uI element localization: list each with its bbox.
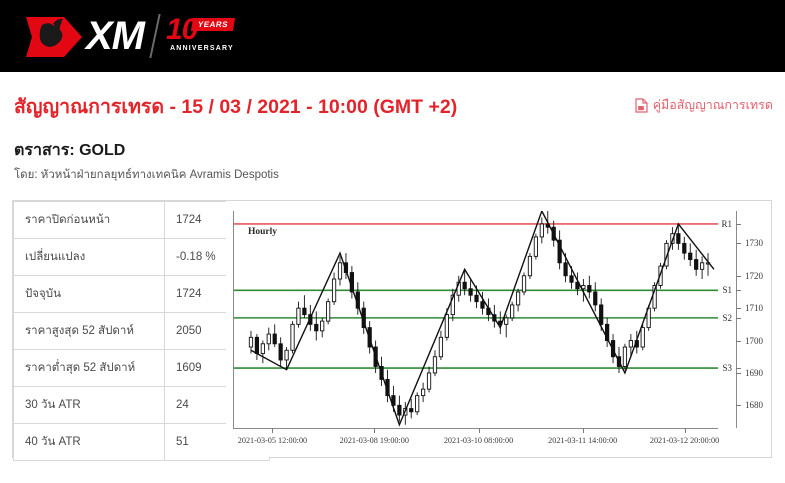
candle-body: [683, 243, 686, 253]
y-axis-tick-label: 1730: [745, 238, 763, 248]
x-axis-tick: [685, 428, 686, 433]
candle-body: [273, 334, 276, 344]
pivot-label-s1: S1: [716, 285, 732, 295]
candle-body: [570, 276, 573, 282]
y-axis-tick: [736, 341, 741, 342]
y-axis-tick-label: 1710: [745, 303, 763, 313]
logo-wordmark: XM: [86, 11, 144, 61]
stats-row-label: เปลี่ยนแปลง: [14, 239, 165, 276]
candle-body: [534, 237, 537, 256]
x-axis-tick: [583, 428, 584, 433]
anniversary-badge: 10 YEARS ANNIVERSARY: [166, 11, 244, 61]
x-axis-tick-label: 2021-03-11 14:00:00: [548, 436, 617, 445]
y-axis-tick-label: 1690: [745, 368, 763, 378]
candle-body: [321, 321, 324, 331]
pivot-label-s2: S2: [716, 313, 732, 323]
y-axis-tick: [736, 276, 741, 277]
candle-body: [416, 396, 419, 412]
author-byline: โดย: หัวหน้าฝ่ายกลยุทธ์ทางเทคนิค Avramis…: [14, 166, 279, 184]
candle-body: [694, 260, 697, 270]
y-axis-tick: [736, 243, 741, 244]
pivot-tick: [736, 290, 741, 291]
candle-body: [249, 337, 252, 347]
xm-logo[interactable]: XM 10 YEARS ANNIVERSARY: [22, 10, 244, 62]
candle-body: [516, 292, 519, 305]
y-axis-tick: [736, 405, 741, 406]
pdf-file-icon: [635, 98, 648, 113]
anniversary-years-ribbon: YEARS: [191, 18, 235, 31]
candle-body: [398, 405, 401, 415]
candle-body: [469, 289, 472, 295]
stats-row-label: ราคาปิดก่อนหน้า: [14, 202, 165, 239]
y-axis-tick-label: 1700: [745, 336, 763, 346]
candle-body: [421, 389, 424, 395]
candle-body: [505, 318, 508, 324]
price-chart: Hourly 173017201710170016901680R1S1S2S3 …: [226, 201, 771, 457]
y-axis-tick: [736, 308, 741, 309]
y-axis-tick: [736, 373, 741, 374]
candle-body: [510, 305, 513, 318]
logo-divider: [149, 14, 160, 58]
candle-body: [445, 315, 448, 338]
chart-plot-area: Hourly: [233, 211, 718, 428]
candle-body: [641, 328, 644, 347]
x-axis-tick-label: 2021-03-12 20:00:00: [650, 436, 719, 445]
candle-body: [410, 409, 413, 412]
candle-body: [315, 324, 318, 330]
site-header-bar: XM 10 YEARS ANNIVERSARY: [0, 0, 785, 72]
x-axis-line: [233, 428, 718, 429]
candle-body: [594, 292, 597, 305]
stats-row-label: ปัจจุบัน: [14, 276, 165, 313]
candle-body: [475, 295, 478, 301]
candle-body: [267, 334, 270, 344]
pivot-label-s3: S3: [716, 363, 732, 373]
candle-body: [427, 373, 430, 389]
pivot-tick: [736, 224, 741, 225]
anniversary-label: ANNIVERSARY: [170, 45, 234, 52]
candle-body: [600, 305, 603, 324]
stats-row-label: ราคาต่ำสุด 52 สัปดาห์: [14, 350, 165, 387]
candle-body: [588, 285, 591, 291]
candle-body: [623, 347, 626, 366]
candle-body: [332, 279, 335, 302]
candle-body: [338, 263, 341, 279]
candle-body: [303, 308, 306, 314]
pivot-tick: [736, 368, 741, 369]
bull-logo-icon: [22, 11, 86, 61]
candle-body: [528, 256, 531, 275]
candle-body: [481, 302, 484, 308]
trading-signals-guide-link[interactable]: คู่มือสัญญาณการเทรด: [635, 95, 773, 115]
chart-timeframe-label: Hourly: [248, 227, 277, 237]
x-axis-tick-label: 2021-03-05 12:00:00: [238, 436, 307, 445]
candle-body: [439, 337, 442, 356]
x-axis-tick: [374, 428, 375, 433]
candle-body: [463, 282, 466, 288]
pdf-link-label: คู่มือสัญญาณการเทรด: [653, 95, 773, 115]
signal-page: XM 10 YEARS ANNIVERSARY สัญญาณการเทรด - …: [0, 0, 785, 483]
candle-body: [689, 253, 692, 259]
candle-body: [433, 357, 436, 373]
candle-body: [540, 224, 543, 237]
candle-body: [255, 337, 258, 353]
y-axis-tick-label: 1720: [745, 271, 763, 281]
pivot-label-r1: R1: [716, 219, 732, 229]
pivot-tick: [736, 318, 741, 319]
candle-body: [522, 276, 525, 292]
candle-body: [700, 263, 703, 269]
candle-body: [279, 344, 282, 360]
candle-body: [291, 324, 294, 350]
chart-canvas: [234, 211, 718, 428]
page-title: สัญญาณการเทรด - 15 / 03 / 2021 - 10:00 (…: [14, 91, 457, 122]
candle-body: [261, 344, 264, 354]
x-axis-tick: [479, 428, 480, 433]
y-axis-tick-label: 1680: [745, 400, 763, 410]
candle-body: [629, 341, 632, 347]
stats-row-label: 30 วัน ATR: [14, 387, 165, 424]
candle-body: [564, 263, 567, 276]
x-axis-tick-label: 2021-03-10 08:00:00: [444, 436, 513, 445]
instrument-title: ตราสาร: GOLD: [14, 138, 125, 163]
candle-body: [326, 302, 329, 321]
stats-row-label: ราคาสูงสุด 52 สัปดาห์: [14, 313, 165, 350]
chart-y-axis: 173017201710170016901680R1S1S2S3: [718, 211, 772, 428]
x-axis-tick: [272, 428, 273, 433]
candle-body: [677, 234, 680, 244]
candle-body: [297, 308, 300, 324]
chart-x-axis: 2021-03-05 12:00:002021-03-08 19:00:0020…: [233, 428, 718, 456]
stats-row-label: 40 วัน ATR: [14, 424, 165, 461]
x-axis-tick-label: 2021-03-08 19:00:00: [340, 436, 409, 445]
candle-body: [285, 350, 288, 360]
